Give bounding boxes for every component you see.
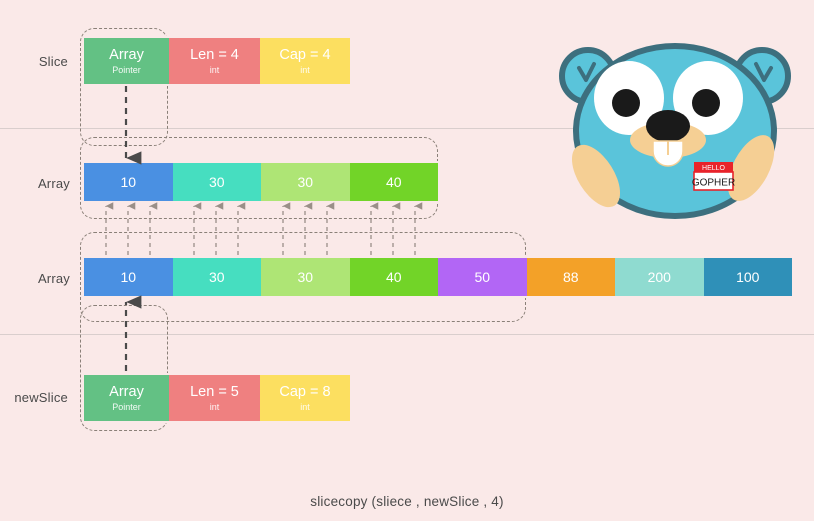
slice-copy-diagram: Slice Array Pointer Len = 4 int Cap = 4 … [0, 0, 814, 521]
newslice-length-sublabel: int [210, 401, 220, 413]
array-source-cell-2: 30 [261, 163, 350, 201]
array-source-value-3: 40 [386, 174, 402, 190]
slice-capacity-cell: Cap = 4 int [260, 38, 350, 84]
slice-length-label: Len = 4 [190, 47, 239, 64]
row-label-newslice: newSlice [0, 390, 68, 405]
array-dest-value-5: 88 [563, 269, 579, 285]
array-dest-cell-4: 50 [438, 258, 527, 296]
array-dest-value-3: 40 [386, 269, 402, 285]
gopher-pupil-right [692, 89, 720, 117]
slice-length-cell: Len = 4 int [169, 38, 260, 84]
array-source-value-1: 30 [209, 174, 225, 190]
array-source-cell-0: 10 [84, 163, 173, 201]
newslice-capacity-sublabel: int [300, 401, 310, 413]
newslice-length-cell: Len = 5 int [169, 375, 260, 421]
array-source-cell-3: 40 [350, 163, 439, 201]
slice-capacity-label: Cap = 4 [279, 47, 330, 64]
row-label-array-dest: Array [0, 271, 70, 286]
array-dest-cell-1: 30 [173, 258, 262, 296]
newslice-array-pointer-label: Array [109, 384, 144, 401]
newslice-capacity-cell: Cap = 8 int [260, 375, 350, 421]
diagram-caption: slicecopy (sliece , newSlice , 4) [0, 494, 814, 509]
row-label-array-source: Array [0, 176, 70, 191]
array-source-value-0: 10 [120, 174, 136, 190]
newslice-array-pointer-cell: Array Pointer [84, 375, 169, 421]
array-dest-value-7: 100 [736, 269, 759, 285]
array-dest-value-4: 50 [474, 269, 490, 285]
newslice-array-pointer-sublabel: Pointer [112, 401, 141, 413]
array-dest-cell-2: 30 [261, 258, 350, 296]
array-dest-value-1: 30 [209, 269, 225, 285]
slice-array-pointer-label: Array [109, 47, 144, 64]
array-source-cell-1: 30 [173, 163, 262, 201]
array-dest-value-2: 30 [297, 269, 313, 285]
gopher-badge-title: HELLO [702, 165, 726, 172]
gopher-pupil-left [612, 89, 640, 117]
array-dest-cell-6: 200 [615, 258, 704, 296]
gopher-nose [646, 110, 690, 142]
array-dest-cell-7: 100 [704, 258, 793, 296]
newslice-capacity-label: Cap = 8 [279, 384, 330, 401]
array-dest-cell-5: 88 [527, 258, 616, 296]
slice-length-sublabel: int [210, 64, 220, 76]
array-dest-value-6: 200 [648, 269, 671, 285]
array-dest-cell-0: 10 [84, 258, 173, 296]
newslice-length-label: Len = 5 [190, 384, 239, 401]
array-dest-cell-3: 40 [350, 258, 439, 296]
gopher-name-badge: HELLO GOPHER [692, 162, 735, 190]
row-label-slice: Slice [0, 54, 68, 69]
gopher-badge-name: GOPHER [692, 178, 735, 189]
slice-array-pointer-cell: Array Pointer [84, 38, 169, 84]
array-dest-value-0: 10 [120, 269, 136, 285]
array-source-value-2: 30 [297, 174, 313, 190]
go-gopher-mascot: HELLO GOPHER [548, 28, 803, 220]
slice-array-pointer-sublabel: Pointer [112, 64, 141, 76]
slice-capacity-sublabel: int [300, 64, 310, 76]
